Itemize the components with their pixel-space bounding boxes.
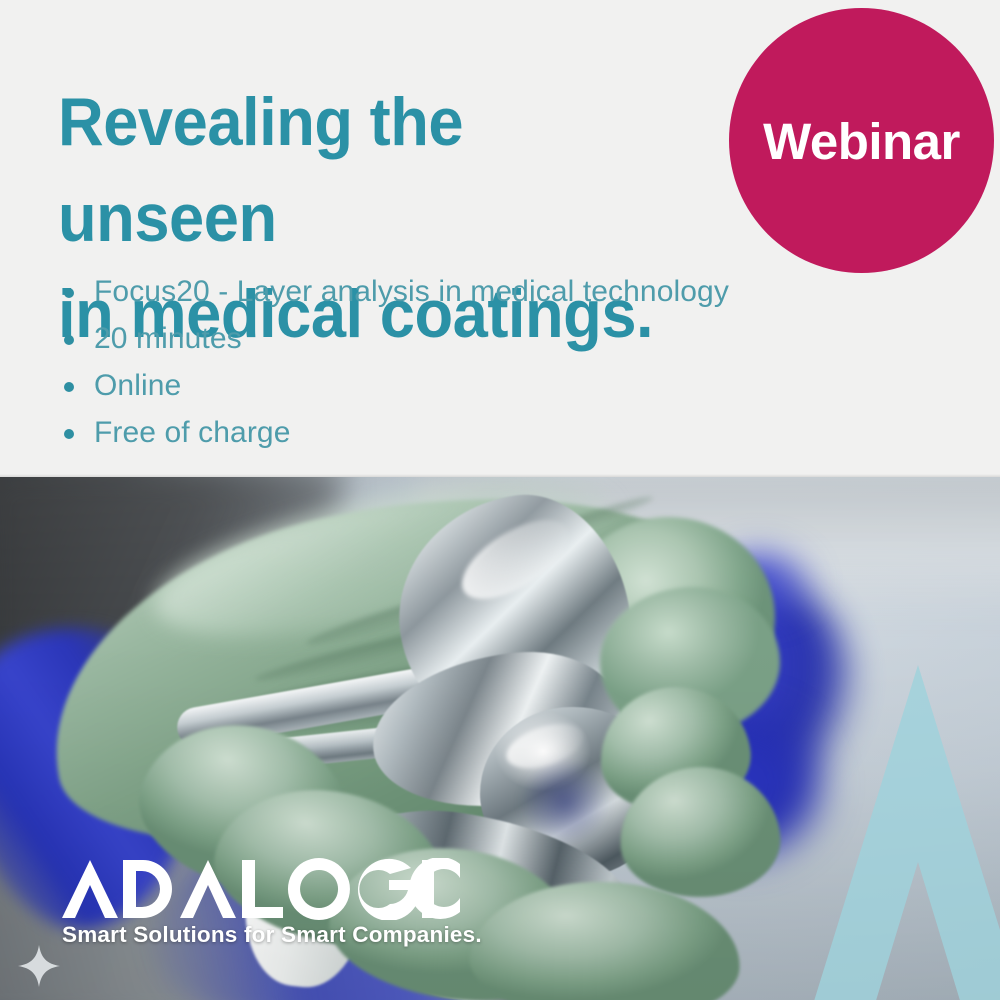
- brand-tagline: Smart Solutions for Smart Companies.: [62, 922, 482, 948]
- list-item: Free of charge: [60, 409, 729, 456]
- webinar-badge-label: Webinar: [763, 116, 960, 167]
- list-item: 20 minutes: [60, 315, 729, 362]
- adalogic-wordmark-icon: [60, 858, 460, 920]
- header-band: Revealing the unseen in medical coatings…: [0, 0, 1000, 477]
- brand-logo: Smart Solutions for Smart Companies.: [60, 858, 480, 968]
- webinar-details-list: Focus20 - Layer analysis in medical tech…: [60, 268, 729, 456]
- webinar-poster: Revealing the unseen in medical coatings…: [0, 0, 1000, 1000]
- webinar-badge: Webinar: [729, 8, 994, 273]
- list-item: Focus20 - Layer analysis in medical tech…: [60, 268, 729, 315]
- list-item: Online: [60, 362, 729, 409]
- sparkle-icon: [18, 945, 60, 987]
